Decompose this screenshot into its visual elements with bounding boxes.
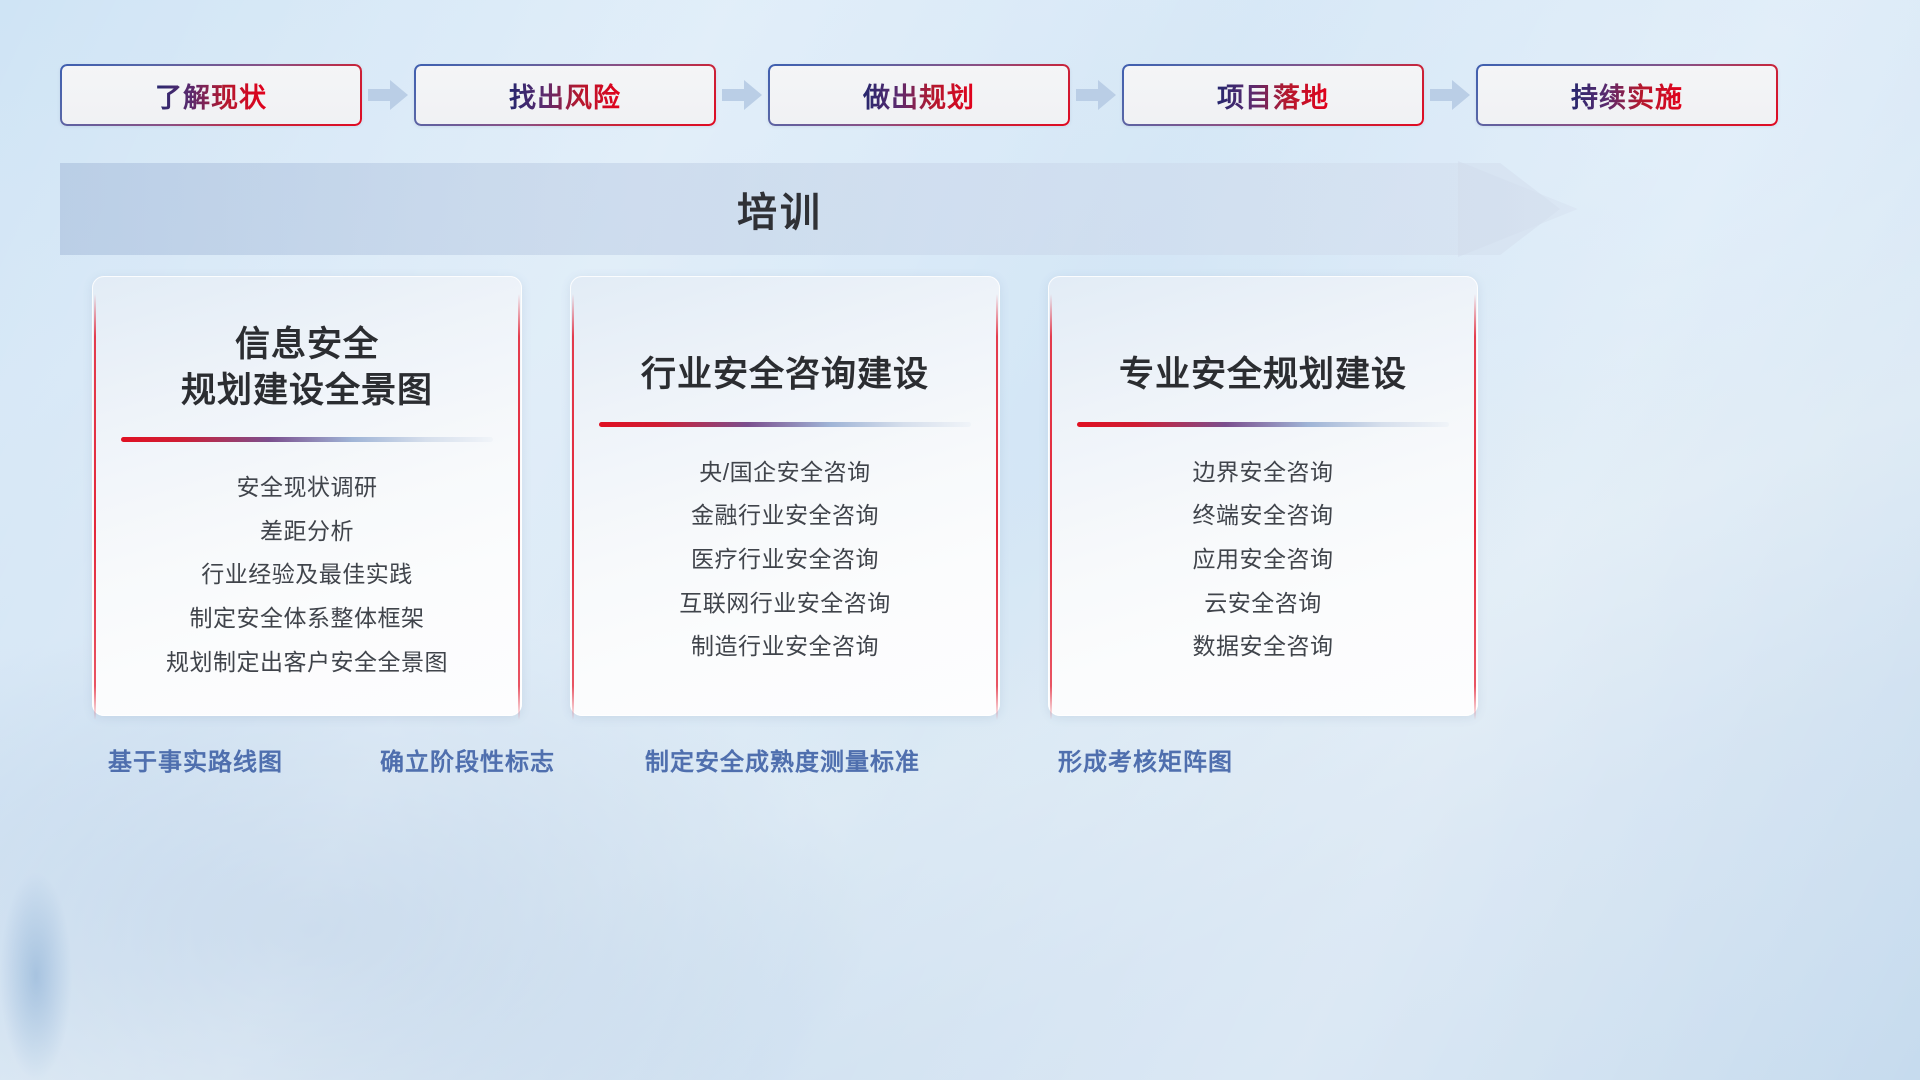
card-1-divider <box>121 437 493 442</box>
footnote-3: 制定安全成熟度测量标准 <box>645 742 920 777</box>
card-3[interactable]: 专业安全规划建设 边界安全咨询 终端安全咨询 应用安全咨询 云安全咨询 数据安全… <box>1048 276 1478 716</box>
list-item: 制定安全体系整体框架 <box>190 603 425 635</box>
card-3-list: 边界安全咨询 终端安全咨询 应用安全咨询 云安全咨询 数据安全咨询 <box>1074 457 1452 664</box>
process-step-row: 了解现状 找出风险 做出规划 项目落地 <box>60 64 1860 126</box>
step-box-1[interactable]: 了解现状 <box>60 64 362 126</box>
list-item: 规划制定出客户安全全景图 <box>166 647 448 679</box>
card-2-divider <box>599 422 971 427</box>
step-box-2[interactable]: 找出风险 <box>414 64 716 126</box>
list-item: 制造行业安全咨询 <box>691 631 879 663</box>
step-label-5: 持续实施 <box>1571 76 1683 115</box>
banner-title: 培训 <box>60 163 1500 255</box>
footnote-2: 确立阶段性标志 <box>380 742 555 777</box>
list-item: 应用安全咨询 <box>1193 544 1334 576</box>
list-item: 安全现状调研 <box>237 472 378 504</box>
step-label-4: 项目落地 <box>1217 76 1329 115</box>
list-item: 差距分析 <box>260 516 354 548</box>
card-1[interactable]: 信息安全 规划建设全景图 安全现状调研 差距分析 行业经验及最佳实践 制定安全体… <box>92 276 522 716</box>
step-arrow-icon-2 <box>716 80 768 110</box>
card-2-right-accent <box>996 294 998 720</box>
card-3-title: 专业安全规划建设 <box>1119 352 1407 398</box>
card-group: 信息安全 规划建设全景图 安全现状调研 差距分析 行业经验及最佳实践 制定安全体… <box>92 276 1482 716</box>
slide-canvas: 了解现状 找出风险 做出规划 项目落地 <box>0 0 1920 1080</box>
step-box-3[interactable]: 做出规划 <box>768 64 1070 126</box>
list-item: 央/国企安全咨询 <box>699 457 870 489</box>
list-item: 云安全咨询 <box>1204 588 1322 620</box>
list-item: 金融行业安全咨询 <box>691 500 879 532</box>
footnote-1: 基于事实路线图 <box>108 742 283 777</box>
card-2[interactable]: 行业安全咨询建设 央/国企安全咨询 金融行业安全咨询 医疗行业安全咨询 互联网行… <box>570 276 1000 716</box>
step-box-5[interactable]: 持续实施 <box>1476 64 1778 126</box>
list-item: 互联网行业安全咨询 <box>679 588 891 620</box>
training-banner: 培训 <box>60 163 1560 255</box>
footnote-row: 基于事实路线图 确立阶段性标志 制定安全成熟度测量标准 形成考核矩阵图 <box>0 742 1920 788</box>
list-item: 终端安全咨询 <box>1193 500 1334 532</box>
card-1-title: 信息安全 规划建设全景图 <box>181 322 433 413</box>
list-item: 数据安全咨询 <box>1193 631 1334 663</box>
step-label-3: 做出规划 <box>863 76 975 115</box>
card-2-list: 央/国企安全咨询 金融行业安全咨询 医疗行业安全咨询 互联网行业安全咨询 制造行… <box>596 457 974 664</box>
card-3-right-accent <box>1474 294 1476 720</box>
card-1-left-accent <box>94 294 96 720</box>
step-label-1: 了解现状 <box>155 76 267 115</box>
card-3-divider <box>1077 422 1449 427</box>
list-item: 行业经验及最佳实践 <box>201 559 413 591</box>
step-arrow-icon-1 <box>362 80 414 110</box>
list-item: 医疗行业安全咨询 <box>691 544 879 576</box>
step-arrow-icon-3 <box>1070 80 1122 110</box>
card-2-title: 行业安全咨询建设 <box>641 352 929 398</box>
footnote-4: 形成考核矩阵图 <box>1058 742 1233 777</box>
card-2-left-accent <box>572 294 574 720</box>
step-label-2: 找出风险 <box>509 76 621 115</box>
card-3-left-accent <box>1050 294 1052 720</box>
step-box-4[interactable]: 项目落地 <box>1122 64 1424 126</box>
card-1-list: 安全现状调研 差距分析 行业经验及最佳实践 制定安全体系整体框架 规划制定出客户… <box>118 472 496 679</box>
step-arrow-icon-4 <box>1424 80 1476 110</box>
card-1-right-accent <box>518 294 520 720</box>
list-item: 边界安全咨询 <box>1193 457 1334 489</box>
